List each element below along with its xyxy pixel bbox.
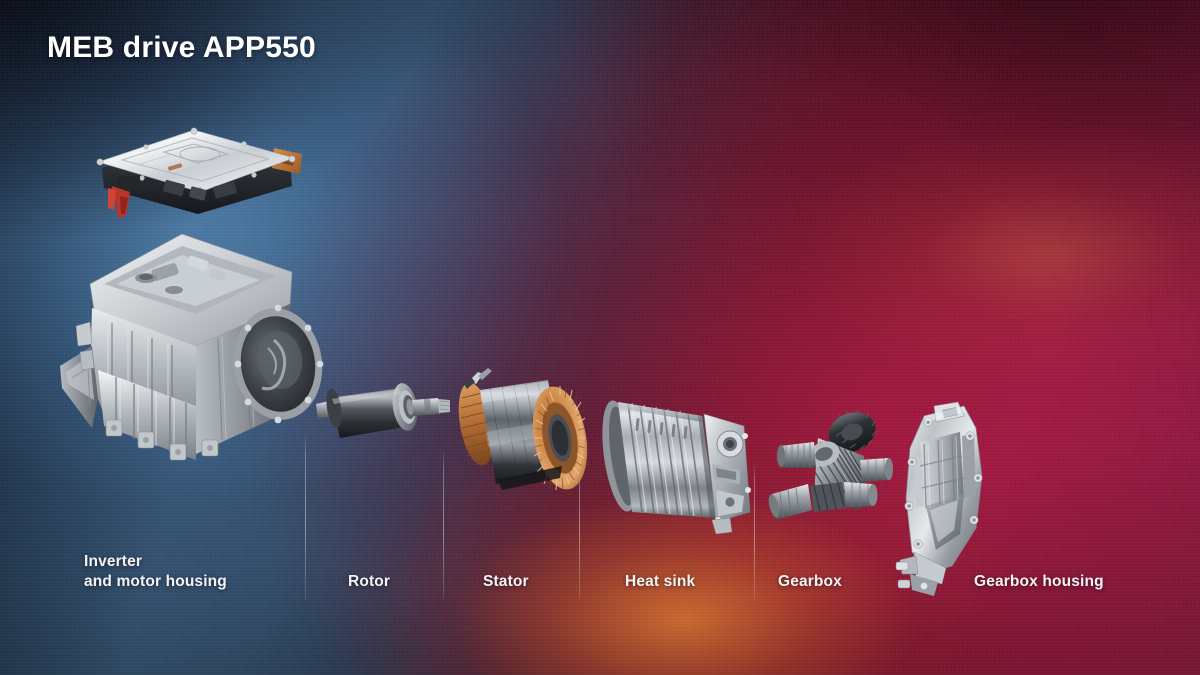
rotor-part: [314, 368, 454, 460]
motor-housing-part: [46, 228, 336, 478]
component-label-gearbox: Gearbox: [778, 572, 842, 592]
component-label-heat-sink: Heat sink: [625, 572, 695, 592]
section-divider-2: [443, 449, 444, 599]
component-label-stator: Stator: [483, 572, 529, 592]
stator-part: [452, 362, 602, 522]
heat-sink-part: [598, 392, 758, 547]
inverter-part: [78, 118, 318, 228]
component-label-gearbox-housing: Gearbox housing: [974, 572, 1104, 592]
page-title: MEB drive APP550: [47, 31, 316, 65]
component-label-inverter-and-motor-housing: Inverter and motor housing: [84, 552, 227, 592]
slide-canvas: MEB drive APP550: [0, 0, 1200, 675]
gearbox-part: [768, 398, 898, 526]
component-label-rotor: Rotor: [348, 572, 390, 592]
